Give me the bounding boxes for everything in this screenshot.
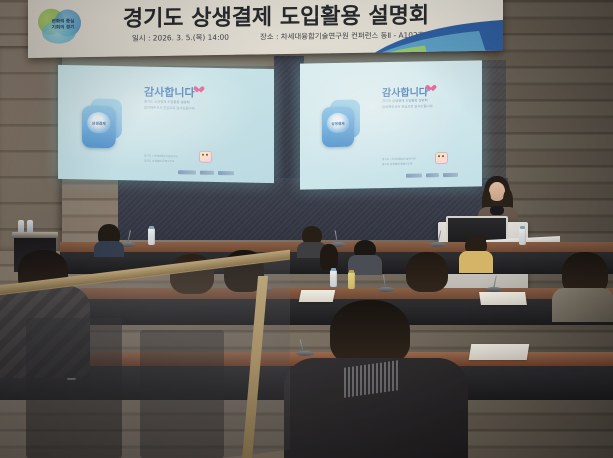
acoustic-panel-right <box>480 60 506 180</box>
shelf-bottle <box>18 220 24 233</box>
slide-body-left-2: 참여해주셔서 진심으로 감사드립니다 <box>144 106 195 112</box>
slide-footer-right-2: 경기도 상생결제 운영사무국 <box>382 163 412 168</box>
slide-body-right-1: 경기도 상생결제 도입활용 설명회 <box>382 98 428 104</box>
slide-footer-left-1: 경기도 / 차세대융합기술연구원 <box>144 155 178 160</box>
event-banner: 변화의 중심 기회의 경기 경기도 상생결제 도입활용 설명회 일시 : 202… <box>28 0 503 58</box>
slide-footer-right-1: 경기도 / 차세대융합기술연구원 <box>382 158 416 163</box>
gyeonggi-emblem-icon: 변화의 중심 기회의 경기 <box>36 6 90 47</box>
partner-logos-left <box>178 170 234 175</box>
chair-back <box>140 330 224 458</box>
handout-paper <box>469 344 530 360</box>
left-wall-panel <box>0 46 62 251</box>
app-logo-label-left: 상생결제 <box>85 121 112 127</box>
water-bottle <box>148 228 155 245</box>
slide-thanks-left: 감사합니다 <box>144 84 195 101</box>
audience-member <box>318 244 340 274</box>
audience-member <box>400 252 454 304</box>
mascot-icon-left <box>196 148 212 162</box>
slide-footer-left-2: 경기도 상생결제 운영사무국 <box>144 160 174 165</box>
shelf-bottle <box>27 220 33 233</box>
audience-member <box>556 252 613 316</box>
audience-member <box>462 236 490 268</box>
water-bottle <box>330 270 337 287</box>
projection-screen-right: 상생결제 감사합니다 경기도 상생결제 도입활용 설명회 참여해주셔서 진심으로… <box>300 60 482 189</box>
juice-bottle <box>348 272 355 289</box>
audience-member <box>352 240 378 270</box>
slide-body-left-1: 경기도 상생결제 도입활용 설명회 <box>144 100 190 106</box>
projection-screen-left: 상생결제 감사합니다 경기도 상생결제 도입활용 설명회 참여해주셔서 진심으로… <box>58 65 274 183</box>
emblem-line-2: 기회의 경기 <box>40 25 86 32</box>
slide-thanks-right: 감사합니다 <box>382 83 428 99</box>
partner-logos-right <box>406 173 458 178</box>
audience-member <box>96 224 122 250</box>
banner-date: 일시 : 2026. 3. 5.(목) 14:00 <box>132 32 229 44</box>
microphone[interactable] <box>378 272 394 292</box>
chair-back <box>26 318 122 458</box>
slide-body-right-2: 참여해주셔서 진심으로 감사드립니다 <box>382 104 433 110</box>
handout-paper <box>479 292 527 305</box>
microphone[interactable] <box>486 272 502 292</box>
audience-member-foreground <box>300 300 450 458</box>
microphone[interactable] <box>430 228 446 247</box>
water-bottle <box>519 228 526 245</box>
mascot-icon-right <box>432 149 448 163</box>
app-logo-label-right: 상생결제 <box>325 122 351 127</box>
seminar-room-photo: 변화의 중심 기회의 경기 경기도 상생결제 도입활용 설명회 일시 : 202… <box>0 0 613 458</box>
